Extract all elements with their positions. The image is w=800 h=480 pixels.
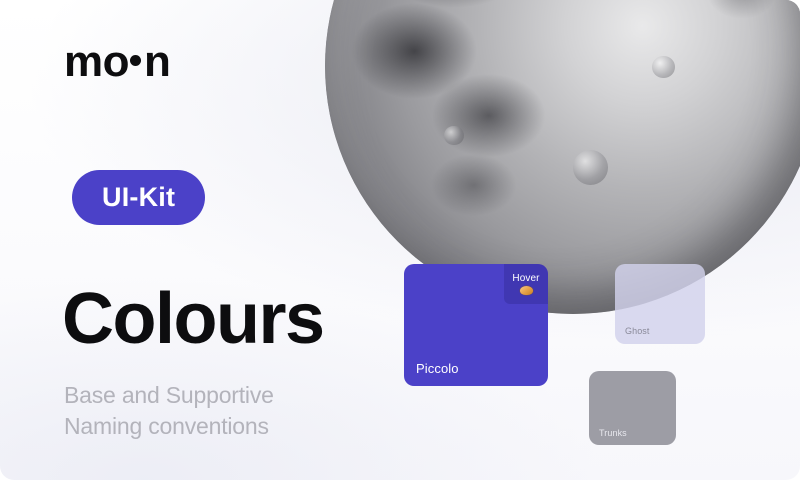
dot-icon — [130, 55, 141, 66]
moon-limb-shading — [325, 0, 800, 314]
page-title: Colours — [62, 283, 324, 355]
subtitle-line-2: Naming conventions — [64, 411, 274, 442]
subtitle-line-1: Base and Supportive — [64, 380, 274, 411]
swatch-label-trunks: Trunks — [599, 428, 627, 438]
swatch-label-piccolo: Piccolo — [416, 361, 459, 376]
presentation-slide: mo n UI-Kit Colours Base and Supportive … — [0, 0, 800, 480]
swatch-label-ghost: Ghost — [625, 326, 650, 336]
brand-logo[interactable]: mo n — [64, 40, 170, 84]
logo-text-pre: mo — [64, 40, 129, 84]
moon-photo — [325, 0, 800, 314]
color-swatch-piccolo[interactable]: Hover Piccolo — [404, 264, 548, 386]
logo-text-post: n — [144, 40, 170, 84]
ui-kit-badge[interactable]: UI-Kit — [72, 170, 205, 225]
hover-tooltip-label: Hover — [512, 274, 539, 284]
color-swatch-trunks[interactable]: Trunks — [589, 371, 676, 445]
cursor-pointer-icon — [520, 286, 533, 295]
hover-tooltip[interactable]: Hover — [504, 264, 548, 304]
page-subtitle: Base and Supportive Naming conventions — [64, 380, 274, 442]
color-swatch-ghost[interactable]: Ghost — [615, 264, 705, 344]
